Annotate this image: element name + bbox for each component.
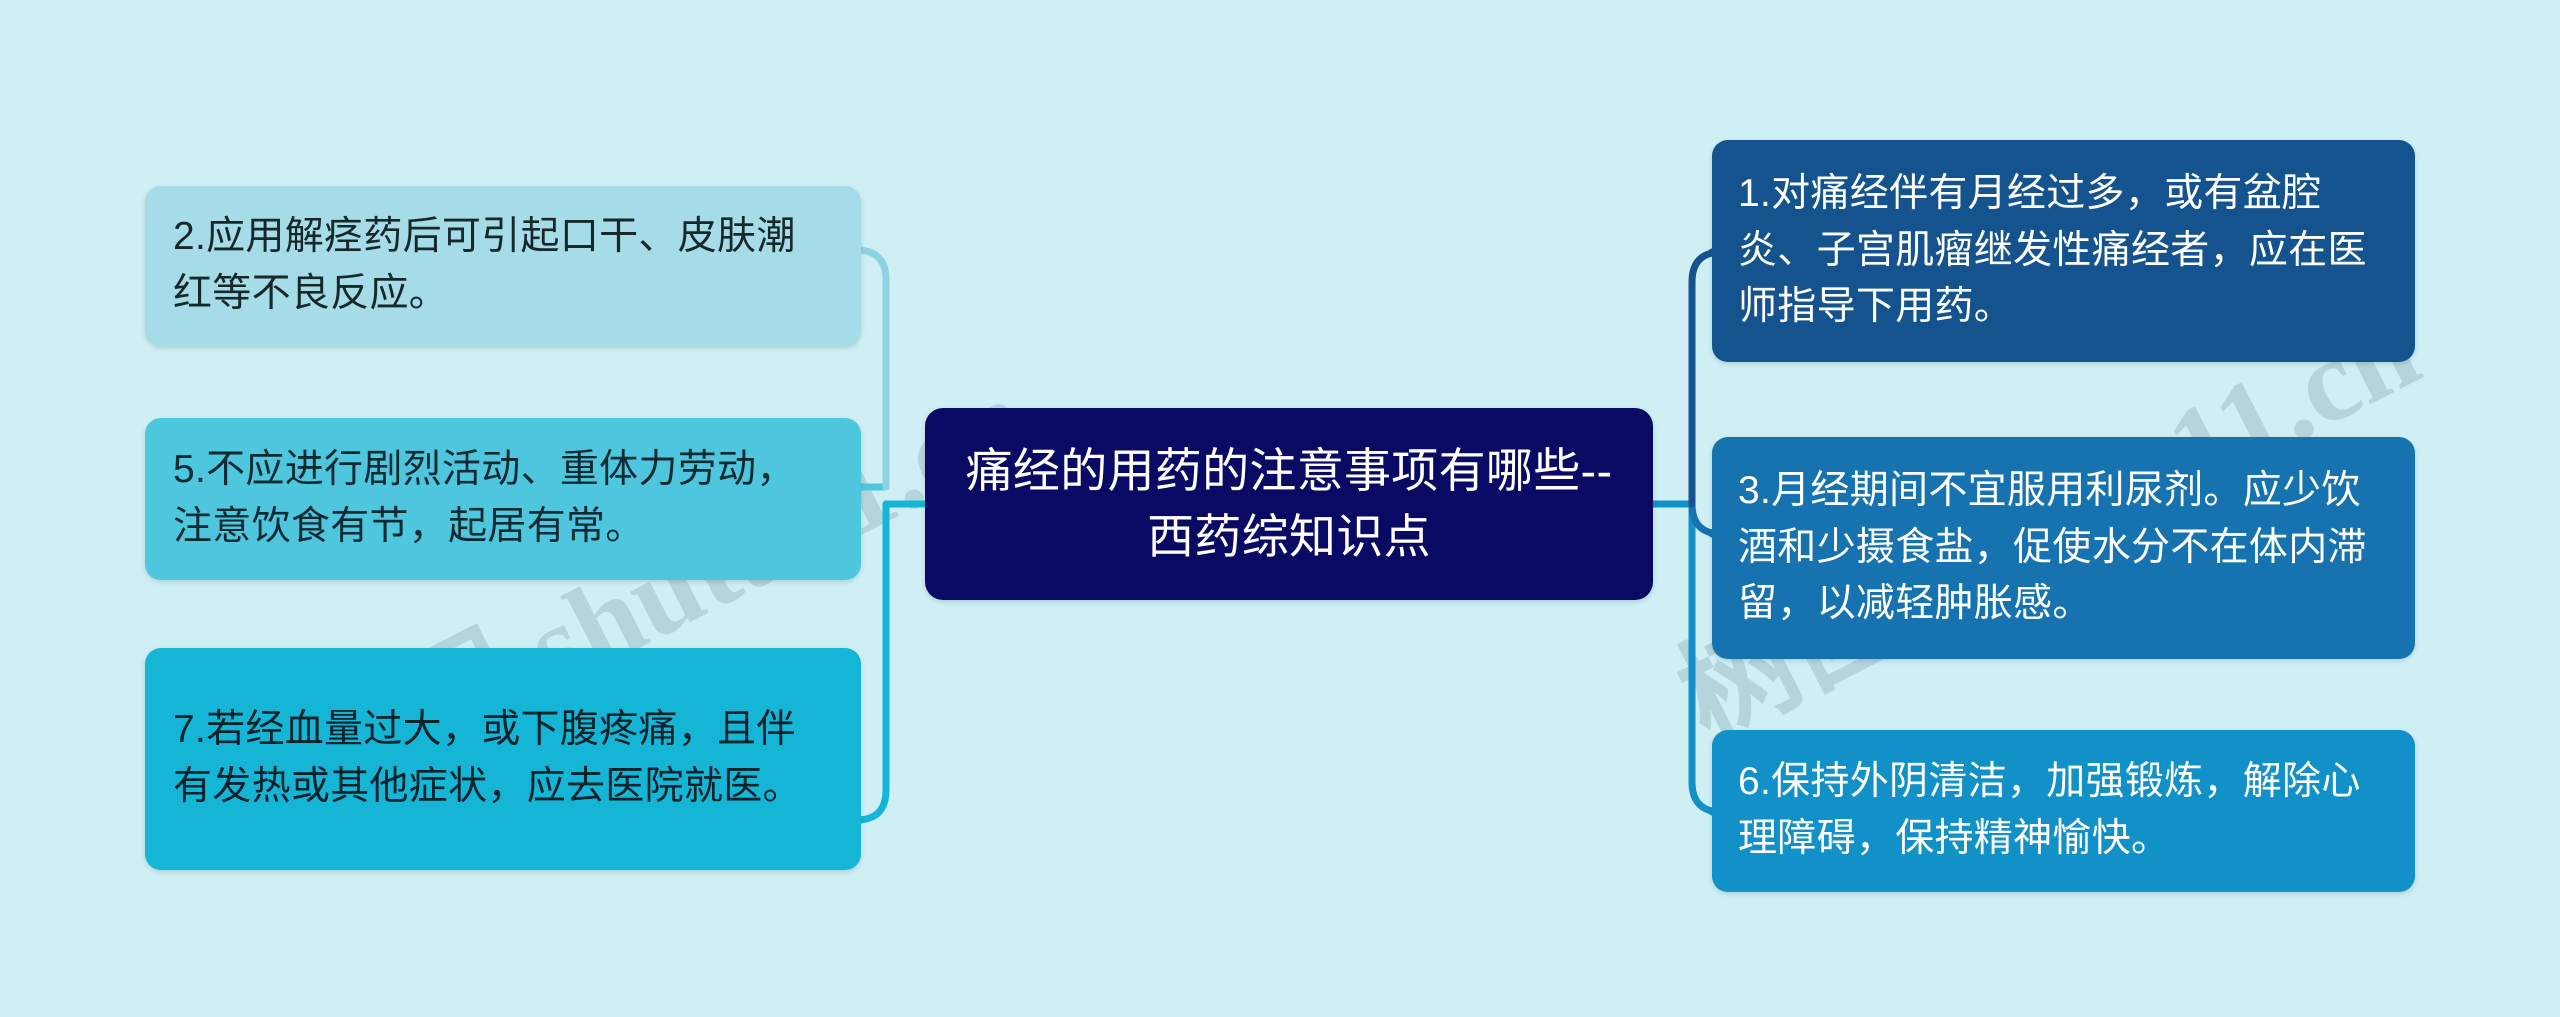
node-left-5-label: 5.不应进行剧烈活动、重体力劳动，注意饮食有节，起居有常。 xyxy=(173,442,833,556)
mindmap-canvas: 树图 shutu11.cn 树图 shutu11.cn 2.应用解痉药后可引起口… xyxy=(0,0,2560,1017)
mindmap-node-right-3[interactable]: 3.月经期间不宜服用利尿剂。应少饮酒和少摄食盐，促使水分不在体内滞留，以减轻肿胀… xyxy=(1712,437,2415,659)
node-left-7-label: 7.若经血量过大，或下腹疼痛，且伴有发热或其他症状，应去医院就医。 xyxy=(173,702,833,816)
node-right-3-label: 3.月经期间不宜服用利尿剂。应少饮酒和少摄食盐，促使水分不在体内滞留，以减轻肿胀… xyxy=(1738,463,2389,634)
mindmap-node-left-2[interactable]: 2.应用解痉药后可引起口干、皮肤潮红等不良反应。 xyxy=(145,186,861,346)
node-right-1-label: 1.对痛经伴有月经过多，或有盆腔炎、子宫肌瘤继发性痛经者，应在医师指导下用药。 xyxy=(1738,166,2389,337)
mindmap-node-left-5[interactable]: 5.不应进行剧烈活动、重体力劳动，注意饮食有节，起居有常。 xyxy=(145,418,861,580)
node-left-2-label: 2.应用解痉药后可引起口干、皮肤潮红等不良反应。 xyxy=(173,209,833,323)
mindmap-node-right-6[interactable]: 6.保持外阴清洁，加强锻炼，解除心理障碍，保持精神愉快。 xyxy=(1712,730,2415,892)
central-topic-label: 痛经的用药的注意事项有哪些--西药综知识点 xyxy=(925,438,1653,570)
mindmap-node-left-7[interactable]: 7.若经血量过大，或下腹疼痛，且伴有发热或其他症状，应去医院就医。 xyxy=(145,648,861,870)
mindmap-node-right-1[interactable]: 1.对痛经伴有月经过多，或有盆腔炎、子宫肌瘤继发性痛经者，应在医师指导下用药。 xyxy=(1712,140,2415,362)
mindmap-central-topic[interactable]: 痛经的用药的注意事项有哪些--西药综知识点 xyxy=(925,408,1653,600)
node-right-6-label: 6.保持外阴清洁，加强锻炼，解除心理障碍，保持精神愉快。 xyxy=(1738,754,2389,868)
